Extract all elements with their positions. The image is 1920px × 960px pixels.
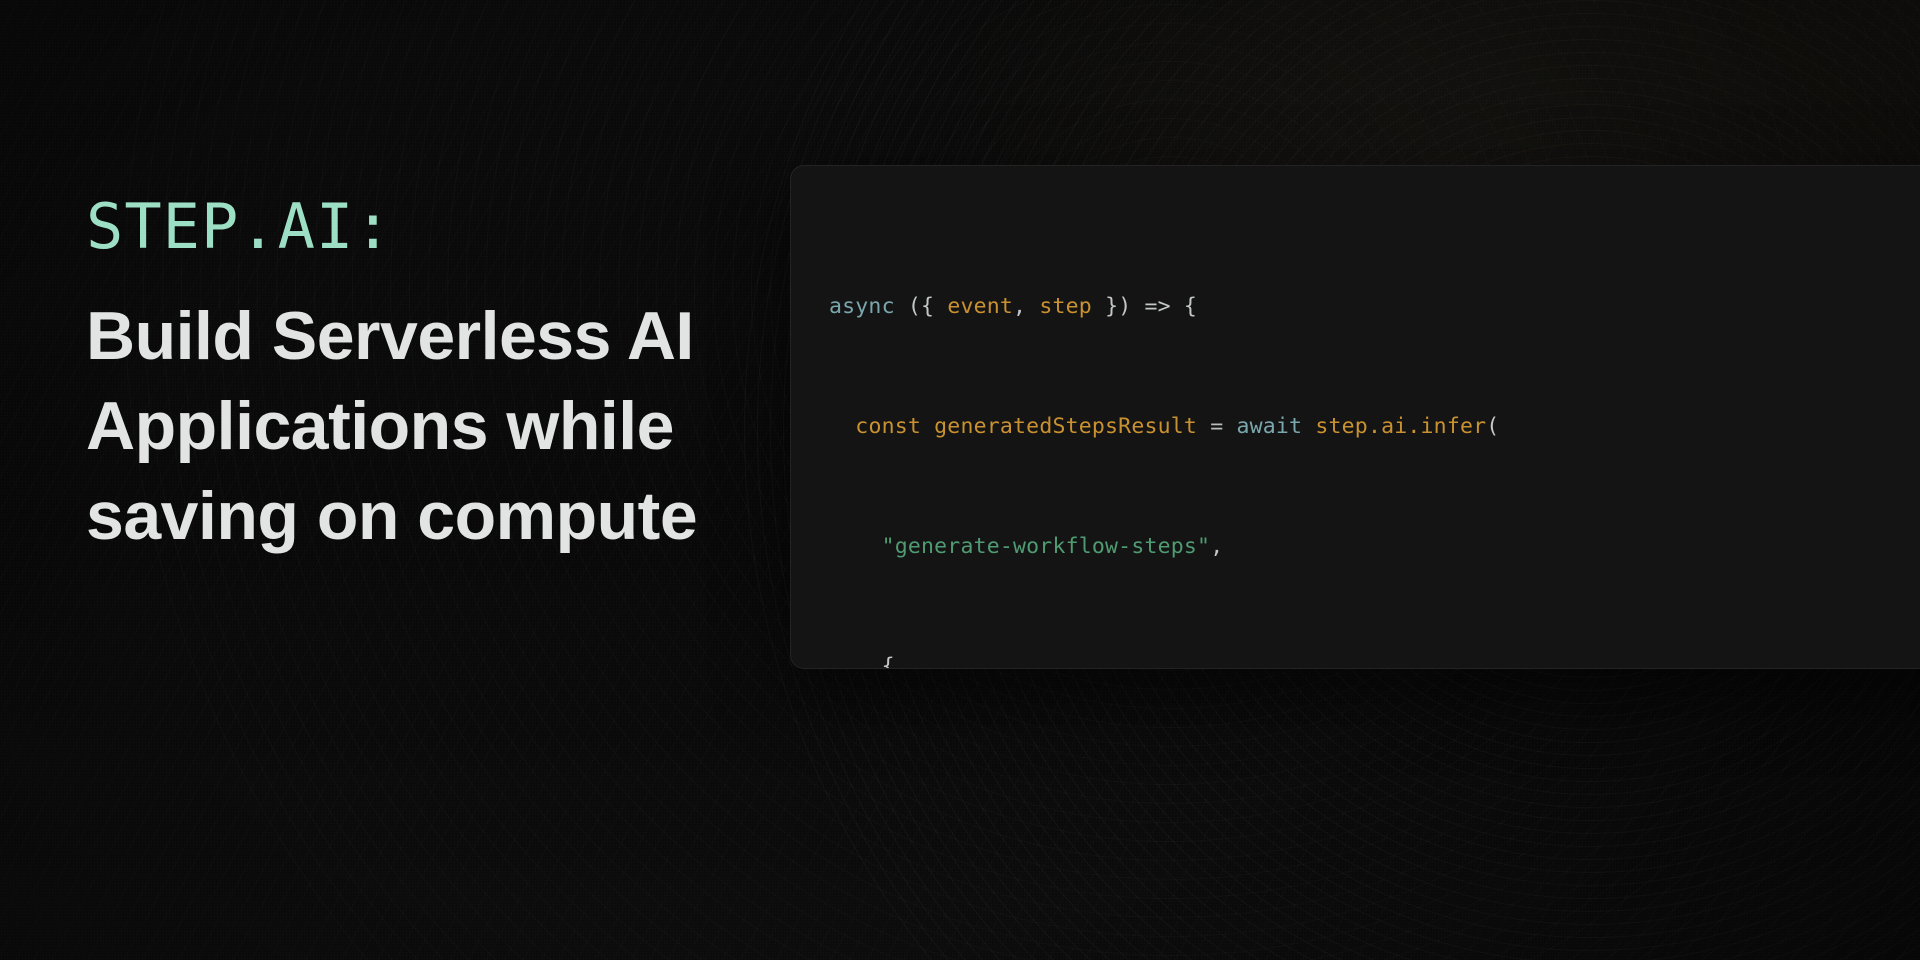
- token-keyword: await: [1236, 414, 1302, 439]
- token-identifier: event: [947, 294, 1013, 319]
- headline-line-2: Applications while: [86, 382, 786, 472]
- token-string: "generate-workflow-steps": [882, 534, 1211, 559]
- hero-eyebrow: STEP.AI:: [86, 196, 786, 258]
- token-operator: =: [1197, 414, 1236, 439]
- headline-line-1: Build Serverless AI: [86, 292, 786, 382]
- token-identifier: step.ai.infer: [1315, 414, 1486, 439]
- token-punctuation: ,: [1013, 294, 1039, 319]
- token-identifier: step: [1039, 294, 1092, 319]
- code-line: "generate-workflow-steps",: [829, 532, 1920, 562]
- code-block: async ({ event, step }) => { const gener…: [829, 202, 1920, 669]
- headline-line-3: saving on compute: [86, 472, 786, 562]
- token-punctuation: {: [882, 654, 895, 669]
- token-indent: [829, 534, 882, 559]
- hero-banner: STEP.AI: Build Serverless AI Application…: [0, 0, 1920, 960]
- code-line: {: [829, 652, 1920, 669]
- token-punctuation: }) => {: [1092, 294, 1197, 319]
- token-space: [1302, 414, 1315, 439]
- token-keyword: async: [829, 294, 895, 319]
- token-indent: [829, 654, 882, 669]
- page-title: Build Serverless AI Applications while s…: [86, 292, 786, 561]
- code-line: const generatedStepsResult = await step.…: [829, 412, 1920, 442]
- token-indent: [829, 414, 855, 439]
- code-line: async ({ event, step }) => {: [829, 292, 1920, 322]
- token-punctuation: ,: [1210, 534, 1223, 559]
- hero-text-block: STEP.AI: Build Serverless AI Application…: [86, 196, 786, 561]
- token-identifier: const generatedStepsResult: [855, 414, 1197, 439]
- token-punctuation: (: [1486, 414, 1499, 439]
- code-panel-inner: async ({ event, step }) => { const gener…: [829, 202, 1920, 668]
- token-punctuation: ({: [895, 294, 948, 319]
- code-snippet-panel: async ({ event, step }) => { const gener…: [790, 165, 1920, 669]
